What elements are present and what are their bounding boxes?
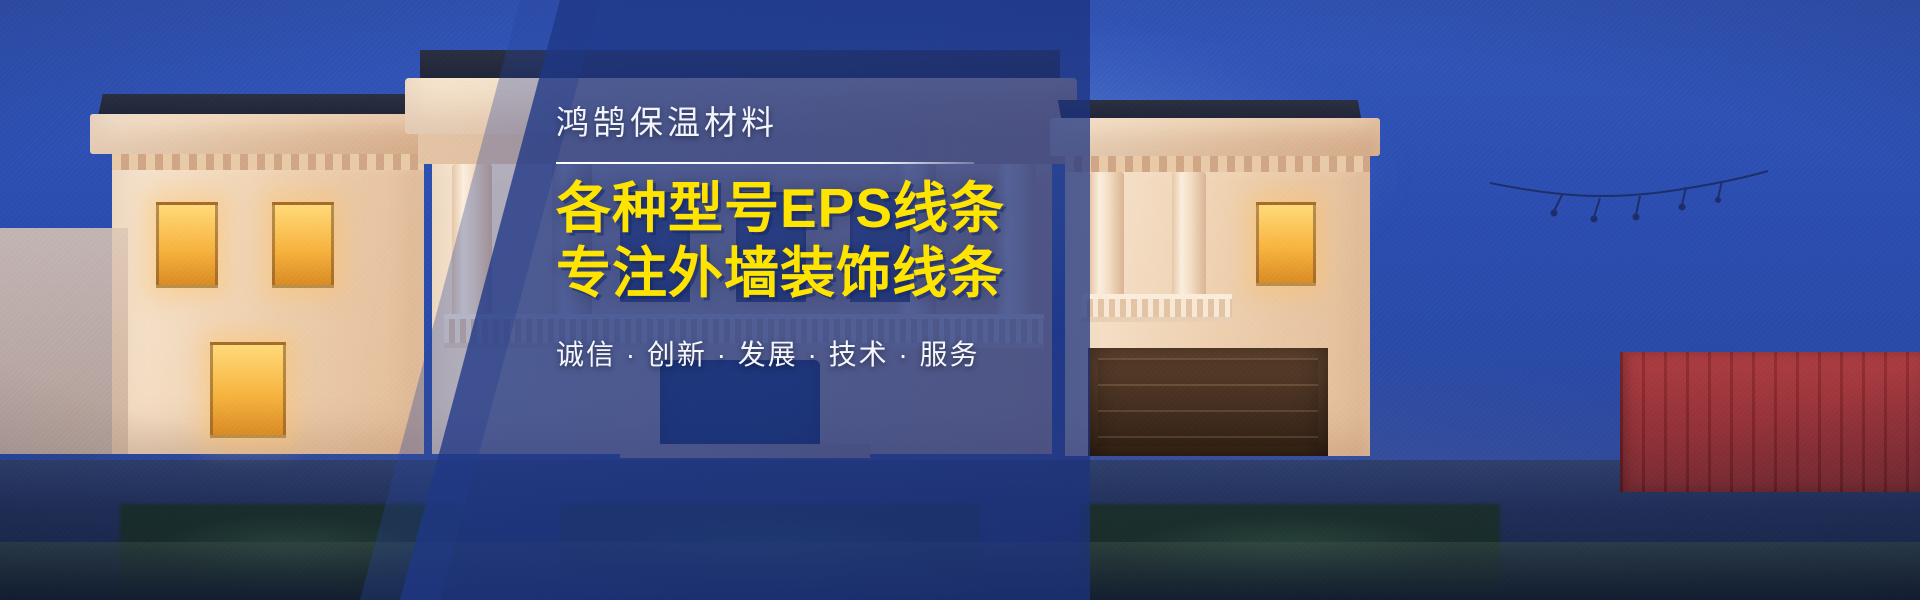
- steps: [620, 444, 870, 458]
- dentil-band-right: [1065, 156, 1370, 172]
- divider-rule: [556, 162, 974, 164]
- banner-content: 鸿鹄保温材料 各种型号EPS线条 专注外墙装饰线条 诚信 · 创新 · 发展 ·…: [556, 96, 1076, 373]
- background-building-left: [0, 228, 128, 454]
- balustrade-right: [1082, 294, 1232, 322]
- cornice-left: [90, 114, 442, 154]
- dentil-band-left: [112, 154, 424, 170]
- window-left-lower-1: [210, 342, 286, 438]
- column-right-1: [1090, 172, 1124, 310]
- lawn: [0, 542, 1920, 600]
- column-right-2: [1172, 172, 1206, 310]
- window-right-upper: [1256, 202, 1316, 286]
- brand-name: 鸿鹄保温材料: [556, 96, 1076, 144]
- entry-door: [660, 360, 820, 456]
- bare-branch-icon: [1490, 165, 1770, 245]
- hero-banner: 鸿鹄保温材料 各种型号EPS线条 专注外墙装饰线条 诚信 · 创新 · 发展 ·…: [0, 0, 1920, 600]
- window-left-upper-1: [156, 202, 218, 288]
- headline-line-2: 专注外墙装饰线条: [556, 243, 1076, 304]
- red-container: [1620, 352, 1920, 492]
- tagline: 诚信 · 创新 · 发展 · 技术 · 服务: [556, 333, 1076, 373]
- headline-line-1: 各种型号EPS线条: [556, 178, 1076, 239]
- column-1: [452, 164, 492, 336]
- window-left-upper-2: [272, 202, 334, 288]
- cornice-right: [1050, 118, 1380, 156]
- garage-door: [1088, 348, 1328, 456]
